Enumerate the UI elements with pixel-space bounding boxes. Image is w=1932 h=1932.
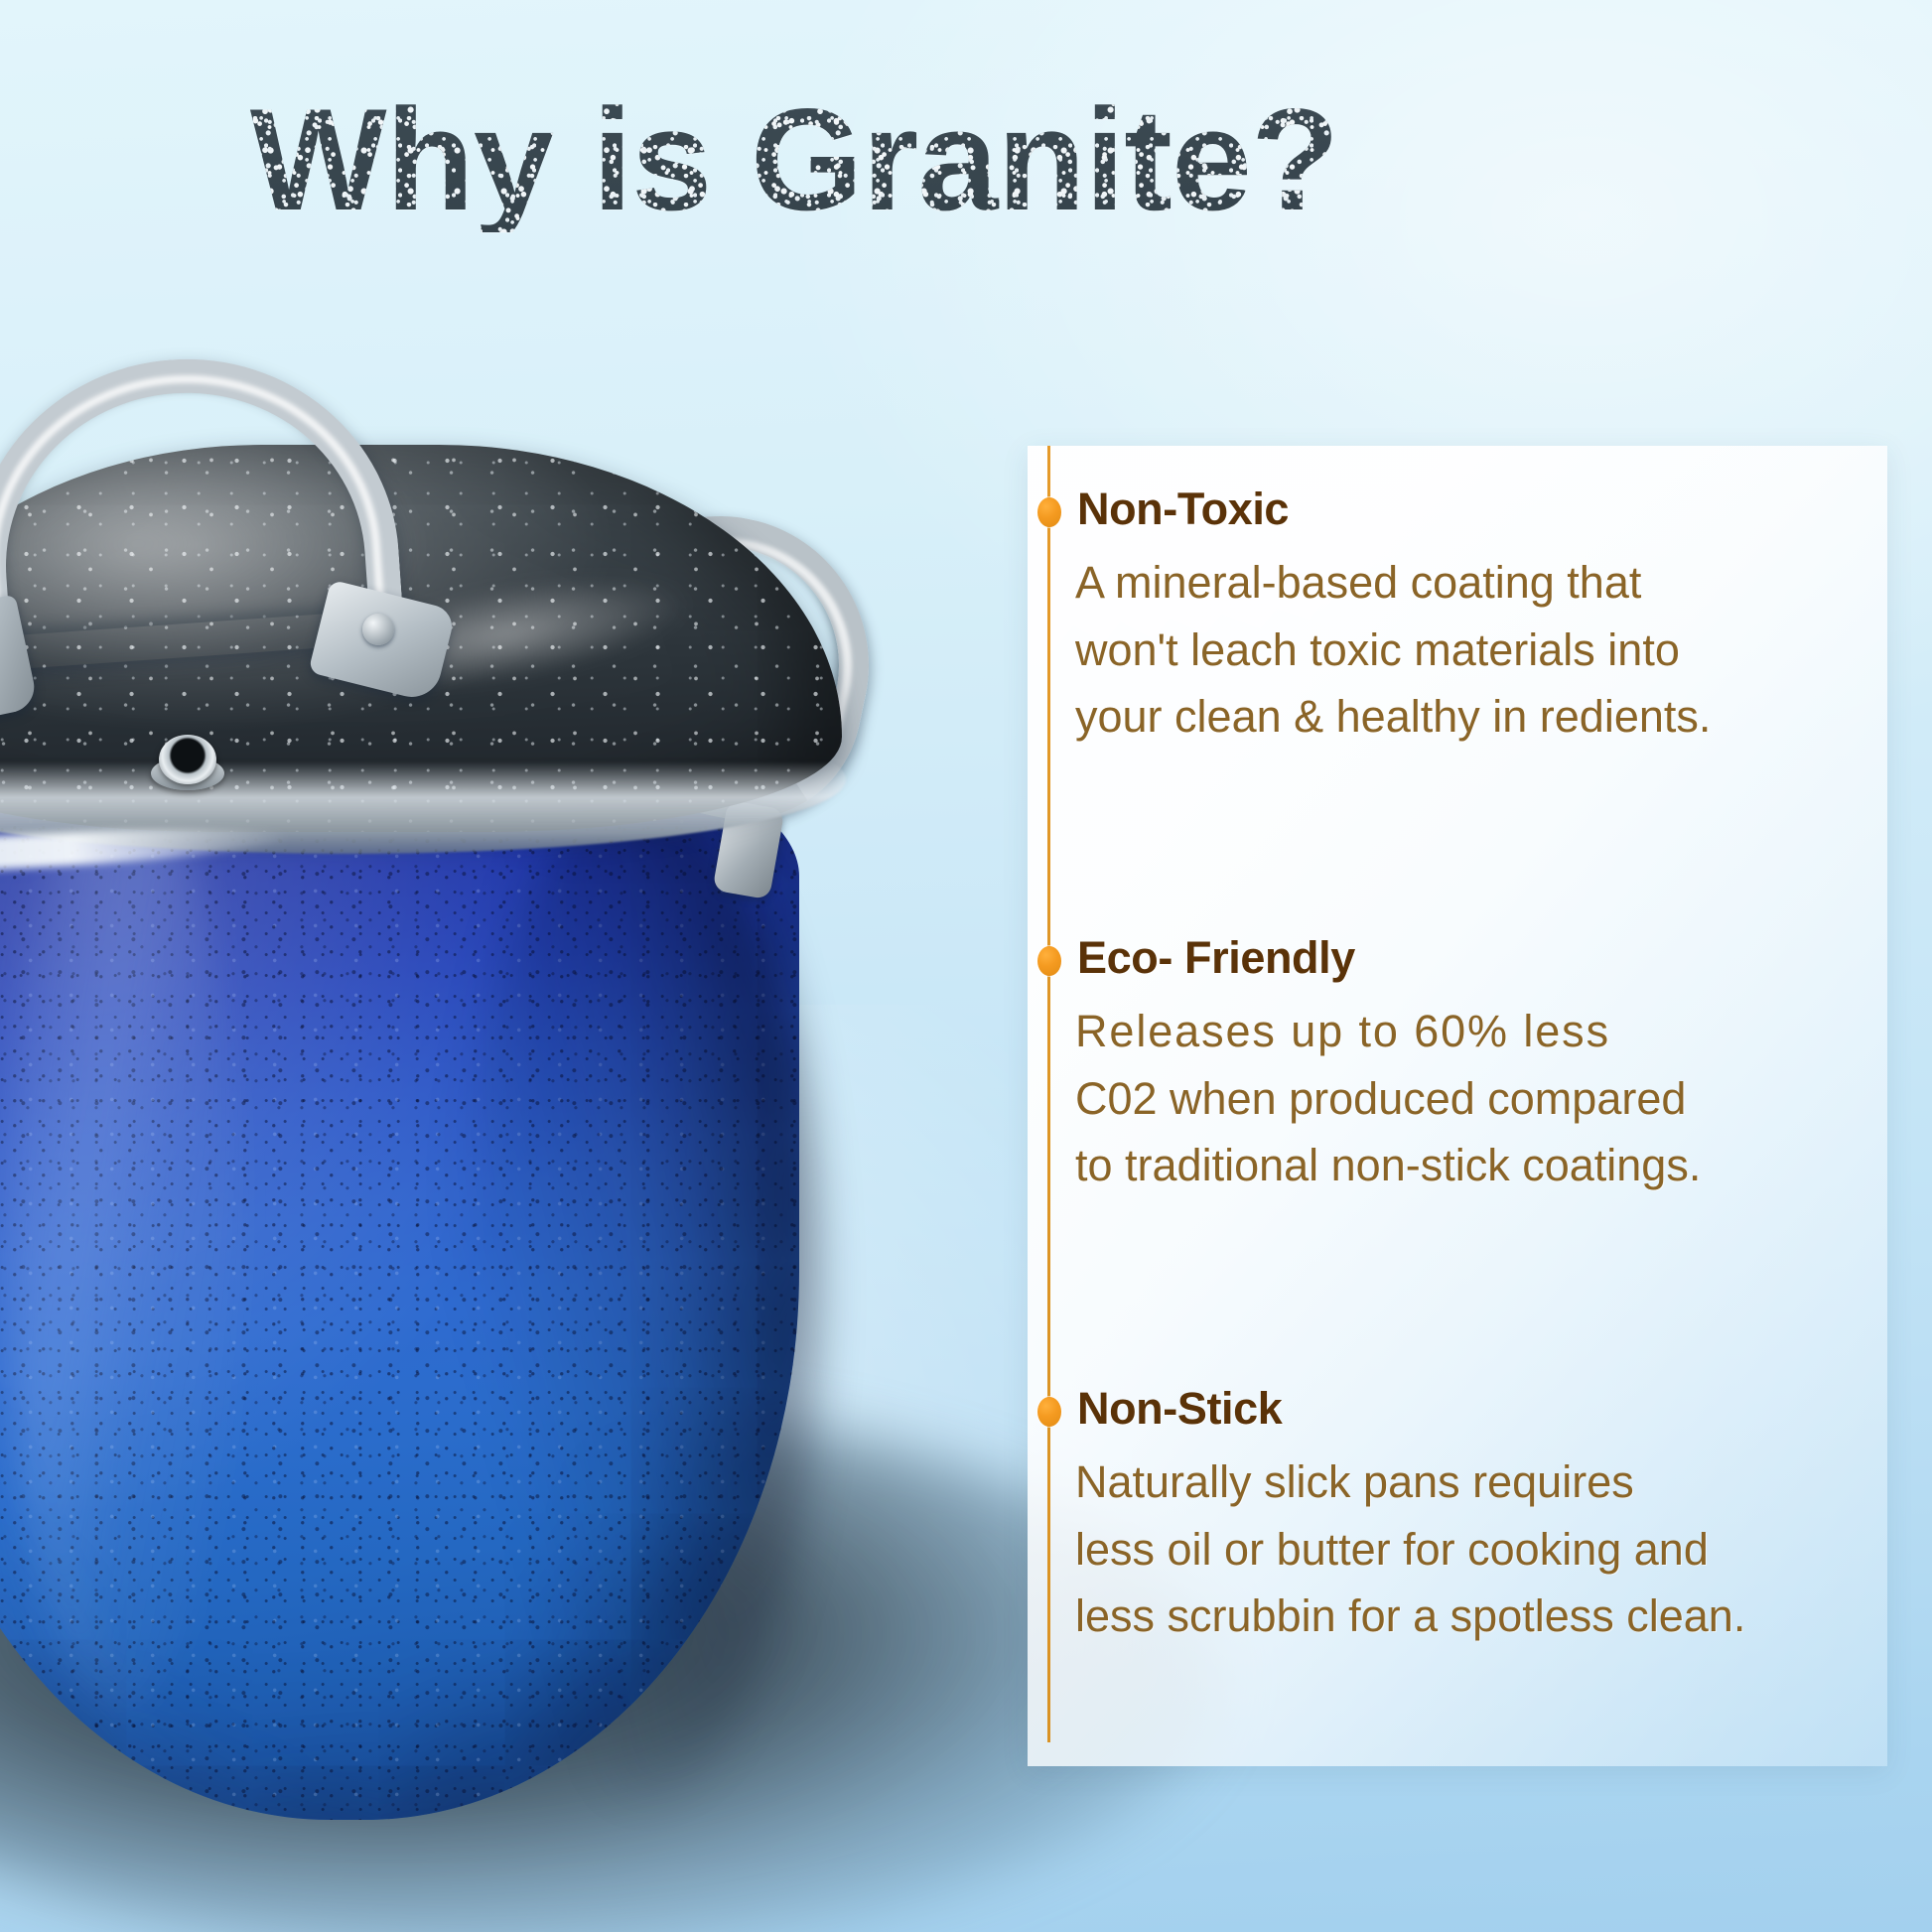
feature-line: A mineral-based coating that	[1075, 549, 1869, 617]
feature-description: Releases up to 60% less C02 when produce…	[1075, 998, 1869, 1199]
feature-line: your clean & healthy in redients.	[1075, 683, 1869, 751]
bullet-dot-icon	[1037, 946, 1061, 976]
product-image-stock-pot	[0, 407, 1023, 1787]
feature-line: less oil or butter for cooking and	[1075, 1516, 1869, 1584]
pot-shade	[456, 788, 817, 1798]
bullet-dot-icon	[1037, 497, 1061, 527]
feature-line: Naturally slick pans requires	[1075, 1449, 1869, 1516]
feature-line: C02 when produced compared	[1075, 1065, 1869, 1133]
lid-steam-vent-hole	[159, 735, 216, 784]
feature-line: to traditional non-stick coatings.	[1075, 1132, 1869, 1199]
feature-line: less scrubbin for a spotless clean.	[1075, 1583, 1869, 1650]
infographic-canvas: Why is Granite?	[0, 0, 1932, 1932]
feature-line: Releases up to 60% less	[1075, 998, 1869, 1065]
feature-description: Naturally slick pans requires less oil o…	[1075, 1449, 1869, 1650]
bullet-dot-icon	[1037, 1397, 1061, 1427]
page-title: Why is Granite?	[0, 87, 1588, 232]
pot-highlight	[4, 766, 239, 1710]
feature-panel: Non-Toxic A mineral-based coating that w…	[1028, 446, 1887, 1766]
feature-description: A mineral-based coating that won't leach…	[1075, 549, 1869, 751]
feature-list: Non-Toxic A mineral-based coating that w…	[1028, 446, 1887, 1766]
feature-line: won't leach toxic materials into	[1075, 617, 1869, 684]
feature-heading: Non-Toxic	[1077, 483, 1289, 535]
pot-body-blue-granite	[0, 723, 799, 1820]
feature-heading: Eco- Friendly	[1077, 932, 1355, 984]
lid-handle-screw-rivet	[362, 614, 394, 645]
feature-heading: Non-Stick	[1077, 1383, 1282, 1435]
